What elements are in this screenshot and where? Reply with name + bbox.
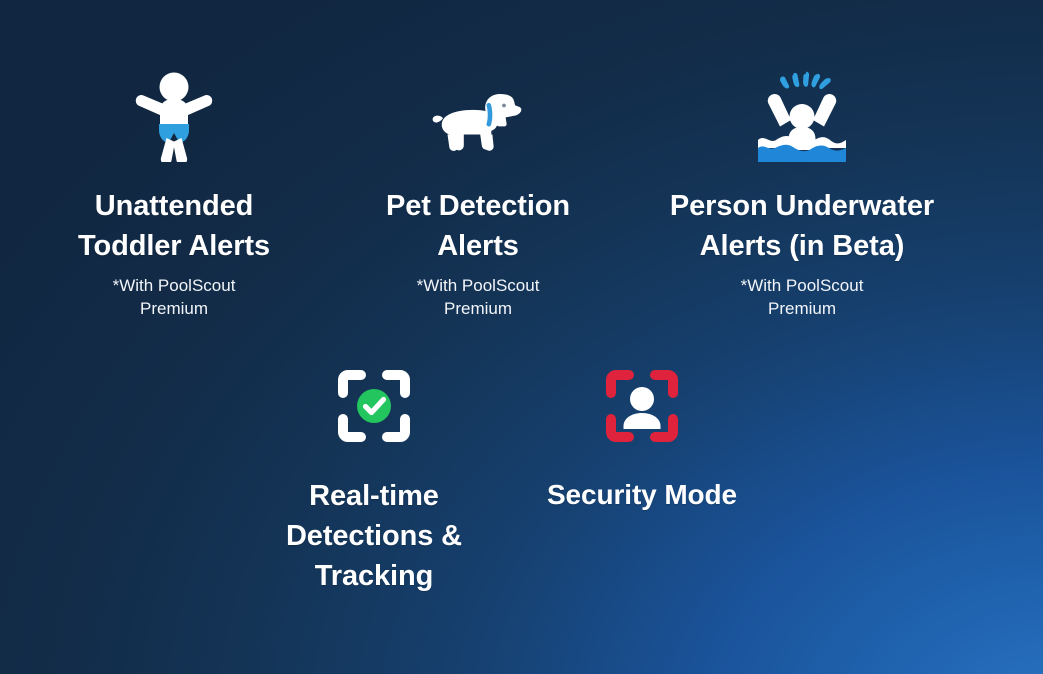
feature-subtitle-line1: *With PoolScout	[741, 276, 864, 295]
feature-title-line1: Person Underwater	[670, 190, 934, 222]
feature-row-bottom: Real-time Detections & Tracking	[0, 358, 1043, 596]
feature-title-line3: Tracking	[315, 560, 433, 592]
detection-check-icon	[336, 358, 412, 454]
feature-subtitle: *With PoolScout Premium	[741, 275, 864, 320]
feature-title-line1: Pet Detection	[386, 190, 570, 222]
feature-title-line1: Security Mode	[547, 479, 737, 510]
feature-subtitle-line1: *With PoolScout	[113, 276, 236, 295]
feature-title-line2: Toddler Alerts	[78, 230, 270, 262]
feature-card-unattended-toddler-alerts[interactable]: Unattended Toddler Alerts *With PoolScou…	[14, 62, 334, 320]
person-underwater-icon	[758, 62, 846, 162]
feature-title: Real-time Detections & Tracking	[286, 476, 462, 596]
feature-title: Unattended Toddler Alerts	[78, 186, 270, 266]
feature-title-line1: Unattended	[95, 190, 254, 222]
feature-row-top: Unattended Toddler Alerts *With PoolScou…	[0, 62, 1043, 320]
feature-card-pet-detection-alerts[interactable]: Pet Detection Alerts *With PoolScout Pre…	[334, 62, 622, 320]
feature-title: Pet Detection Alerts	[386, 186, 570, 266]
feature-subtitle-line2: Premium	[140, 299, 208, 318]
feature-subtitle: *With PoolScout Premium	[417, 275, 540, 320]
feature-card-real-time-detections-tracking[interactable]: Real-time Detections & Tracking	[239, 358, 509, 596]
feature-subtitle-line1: *With PoolScout	[417, 276, 540, 295]
feature-title-line2: Detections &	[286, 520, 462, 552]
feature-title: Person Underwater Alerts (in Beta)	[670, 186, 934, 266]
feature-title-line1: Real-time	[309, 480, 439, 512]
feature-title-line2: Alerts (in Beta)	[700, 230, 905, 262]
dog-icon	[430, 62, 526, 162]
security-person-icon	[604, 358, 680, 454]
feature-subtitle: *With PoolScout Premium	[113, 275, 236, 320]
toddler-icon	[133, 62, 215, 162]
feature-title-line2: Alerts	[437, 230, 519, 262]
feature-subtitle-line2: Premium	[444, 299, 512, 318]
feature-title: Security Mode	[547, 476, 737, 515]
feature-subtitle-line2: Premium	[768, 299, 836, 318]
feature-card-person-underwater-alerts[interactable]: Person Underwater Alerts (in Beta) *With…	[622, 62, 982, 320]
feature-card-security-mode[interactable]: Security Mode	[487, 358, 797, 596]
feature-grid: Unattended Toddler Alerts *With PoolScou…	[0, 0, 1043, 674]
